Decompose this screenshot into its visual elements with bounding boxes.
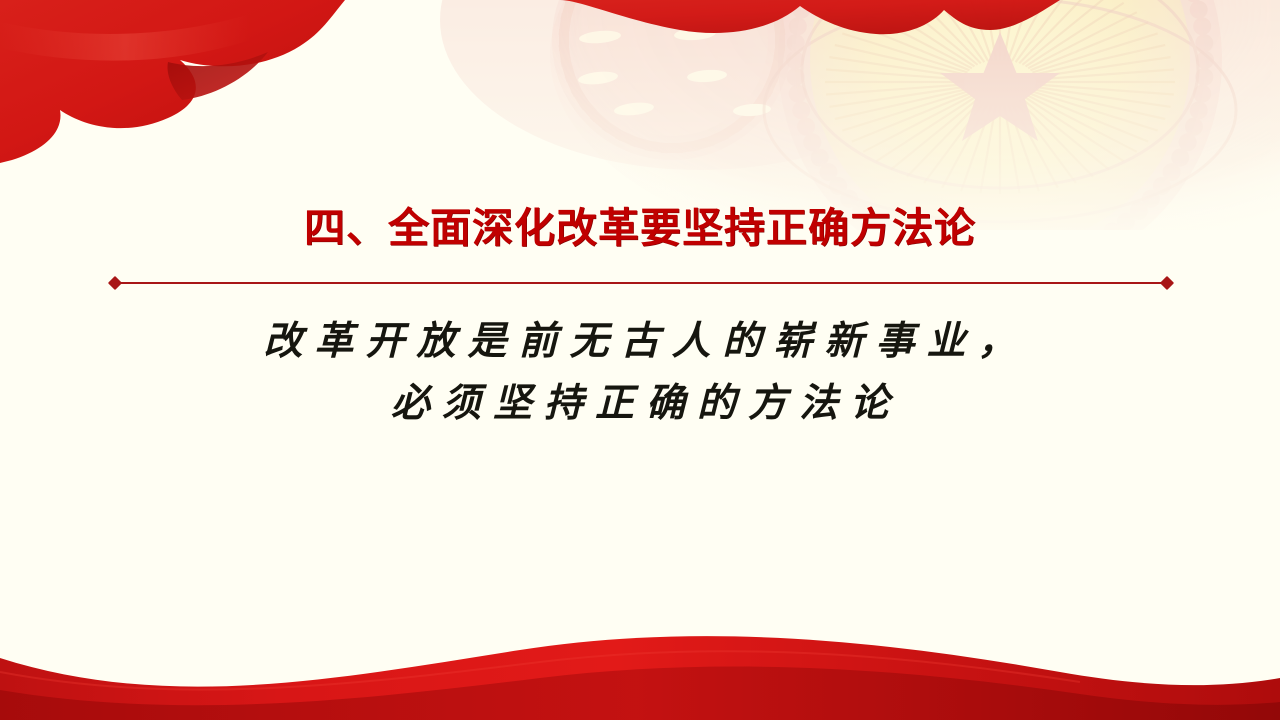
divider-diamond-right-icon [1160, 276, 1174, 290]
subtitle-line-1: 改革开放是前无古人的崭新事业， [0, 310, 1280, 366]
wheat-grains [577, 27, 771, 118]
page-title: 四、全面深化改革要坚持正确方法论 [0, 206, 1280, 252]
subtitle-line-2: 必须坚持正确的方法论 [0, 372, 1280, 428]
divider-rule [116, 282, 1166, 284]
five-pointed-star [940, 32, 1060, 141]
sunburst-rays [825, 0, 1175, 194]
gear-cog-watermark [552, 0, 792, 160]
presentation-slide: 四、全面深化改革要坚持正确方法论 改革开放是前无古人的崭新事业， 必须坚持正确的… [0, 0, 1280, 720]
title-divider [110, 275, 1172, 291]
